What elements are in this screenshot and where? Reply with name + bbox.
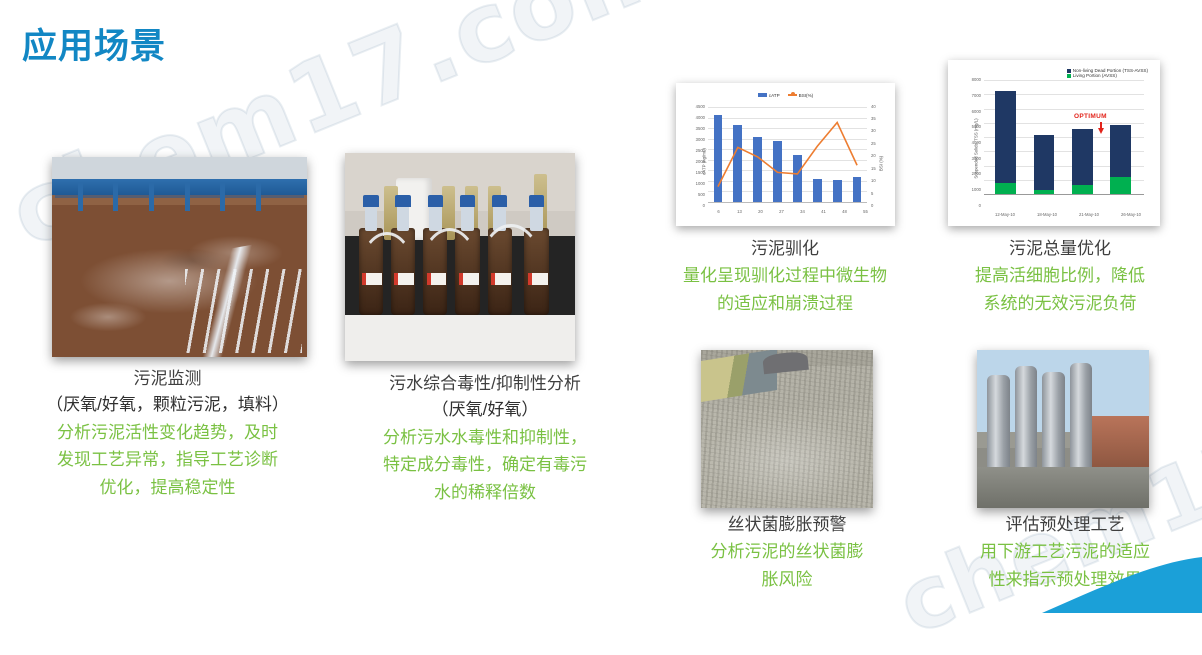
- card-description-line: 用下游工艺污泥的适应: [925, 538, 1202, 566]
- bar-living-portion: [1034, 190, 1055, 194]
- card-title: 污泥总量优化: [920, 236, 1200, 262]
- aeration-tank-photo-inner: [52, 157, 307, 357]
- gridline: [708, 202, 867, 203]
- digester-tower: [1070, 363, 1092, 467]
- suspended-solids-chart-legend: Non-living Dead Portion (TSS-AVSS) Livin…: [1067, 68, 1148, 78]
- bsi-polyline: [718, 122, 857, 186]
- filamentous-sludge-photo-inner: [701, 350, 873, 508]
- tank-post: [78, 183, 83, 211]
- caption-wastewater-toxicity: 污水综合毒性/抑制性分析 （厌氧/好氧） 分析污水水毒性和抑制性， 特定成分毒性…: [330, 371, 640, 506]
- tank-walkway: [52, 179, 307, 195]
- legend-label: BSI(%): [799, 93, 814, 98]
- legend-swatch-bar: [758, 93, 767, 97]
- caption-sludge-total-optimization: 污泥总量优化 提高活细胞比例，降低 系统的无效污泥负荷: [920, 236, 1200, 317]
- bar-living-portion: [995, 183, 1016, 194]
- xtick: 18-May-10: [1026, 212, 1068, 217]
- card-title: 丝状菌膨胀预警: [647, 512, 927, 538]
- ytick: 5000: [954, 124, 981, 129]
- legend-label: Living Portion (AVSS): [1073, 73, 1117, 78]
- caption-filamentous-bulking: 丝状菌膨胀预警 分析污泥的丝状菌膨 胀风险: [647, 512, 927, 593]
- lab-bottles-photo: [345, 153, 575, 361]
- ytick: 500: [682, 192, 705, 197]
- card-description-line: 特定成分毒性，确定有毒污: [330, 451, 640, 479]
- legend-item-bsi: BSI(%): [788, 93, 814, 98]
- bar-dead-portion: [1072, 129, 1093, 185]
- catp-chart-plot-area: [708, 107, 867, 202]
- digester-tower: [1015, 366, 1037, 467]
- xtick: 20: [750, 209, 771, 214]
- filamentous-sludge-photo: [701, 350, 873, 508]
- catp-bs-chart-legend: cATP BSI(%): [682, 89, 889, 101]
- suspended-solids-chart-inner: Non-living Dead Portion (TSS-AVSS) Livin…: [954, 66, 1154, 220]
- ytick: 3500: [682, 126, 705, 131]
- y2tick: 35: [871, 116, 889, 121]
- ytick: 3000: [954, 156, 981, 161]
- legend-item-living-portion: Living Portion (AVSS): [1067, 73, 1148, 78]
- tank-post: [149, 183, 154, 211]
- ytick: 4000: [682, 115, 705, 120]
- ytick: 2500: [682, 148, 705, 153]
- xtick: 13: [729, 209, 750, 214]
- card-description-line: 分析污水水毒性和抑制性，: [330, 424, 640, 452]
- card-description-line: 系统的无效污泥负荷: [920, 290, 1200, 318]
- card-subtitle: （厌氧/好氧，颗粒污泥，填料）: [0, 392, 335, 418]
- ytick: 2000: [682, 159, 705, 164]
- optimum-annotation-label: OPTIMUM: [1074, 113, 1107, 120]
- bar-dead-portion: [995, 91, 1016, 183]
- gridline: [984, 194, 1144, 195]
- legend-swatch-living: [1067, 74, 1071, 78]
- tank-handrail-bars: [185, 269, 302, 353]
- caption-pretreatment-evaluation: 评估预处理工艺 用下游工艺污泥的适应 性来指示预处理效果: [925, 512, 1202, 593]
- caption-sludge-monitoring: 污泥监测 （厌氧/好氧，颗粒污泥，填料） 分析污泥活性变化趋势，及时 发现工艺异…: [0, 366, 335, 501]
- xtick: 21-May-10: [1068, 212, 1110, 217]
- card-description-line: 性来指示预处理效果: [925, 566, 1202, 594]
- xtick: 26-May-10: [1110, 212, 1152, 217]
- xtick: 55: [855, 209, 876, 214]
- y2tick: 0: [871, 203, 889, 208]
- xtick: 6: [708, 209, 729, 214]
- page-title: 应用场景: [22, 18, 166, 69]
- ytick: 3000: [682, 137, 705, 142]
- bsi-line-series: [708, 107, 867, 202]
- card-subtitle: （厌氧/好氧）: [330, 397, 640, 423]
- xtick: 48: [834, 209, 855, 214]
- ytick: 1000: [954, 187, 981, 192]
- card-description-line: 提高活细胞比例，降低: [920, 262, 1200, 290]
- tank-post: [113, 183, 118, 211]
- tank-post: [256, 183, 261, 211]
- y2tick: 20: [871, 153, 889, 158]
- ytick: 8000: [954, 77, 981, 82]
- ytick: 4000: [954, 140, 981, 145]
- card-description-line: 分析污泥的丝状菌膨: [647, 538, 927, 566]
- optimum-arrow-head: [1098, 128, 1104, 134]
- ytick: 1000: [682, 181, 705, 186]
- catp-bs-chart-inner: cATP BSI(%) cATP (ng/mL) BSI (%): [682, 89, 889, 220]
- bar-dead-portion: [1110, 125, 1131, 177]
- y2tick: 40: [871, 104, 889, 109]
- ytick: 6000: [954, 109, 981, 114]
- xtick: 41: [813, 209, 834, 214]
- card-title: 污泥监测: [0, 366, 335, 392]
- bar-living-portion: [1110, 177, 1131, 194]
- ytick: 0: [954, 203, 981, 208]
- digester-tower: [987, 375, 1009, 467]
- card-description-line: 优化，提高稳定性: [0, 474, 335, 502]
- tss-chart-plot-area: [984, 80, 1144, 194]
- card-description-line: 的适应和崩溃过程: [645, 290, 925, 318]
- bar-dead-portion: [1034, 135, 1055, 190]
- card-description-line: 发现工艺异常，指导工艺诊断: [0, 446, 335, 474]
- tank-post: [220, 183, 225, 211]
- ytick: 1500: [682, 170, 705, 175]
- aeration-tank-photo: [52, 157, 307, 357]
- legend-label: cATP: [769, 93, 780, 98]
- tank-post: [185, 183, 190, 211]
- card-description-line: 量化呈现驯化过程中微生物: [645, 262, 925, 290]
- y2tick: 10: [871, 178, 889, 183]
- card-title: 污水综合毒性/抑制性分析: [330, 371, 640, 397]
- digester-tower: [1042, 372, 1064, 467]
- plant-building: [1091, 416, 1149, 470]
- card-description-line: 分析污泥活性变化趋势，及时: [0, 419, 335, 447]
- y2tick: 25: [871, 141, 889, 146]
- ytick: 7000: [954, 93, 981, 98]
- card-title: 评估预处理工艺: [925, 512, 1202, 538]
- digester-plant-photo: [977, 350, 1149, 508]
- suspended-solids-chart: Non-living Dead Portion (TSS-AVSS) Livin…: [948, 60, 1160, 226]
- legend-swatch-line: [788, 94, 797, 96]
- y2tick: 5: [871, 191, 889, 196]
- card-description-line: 水的稀释倍数: [330, 479, 640, 507]
- ytick: 2000: [954, 171, 981, 176]
- bar-living-portion: [1072, 185, 1093, 194]
- xtick: 12-May-10: [984, 212, 1026, 217]
- ytick: 4500: [682, 104, 705, 109]
- xtick: 34: [792, 209, 813, 214]
- y2tick: 15: [871, 166, 889, 171]
- gridline: [984, 80, 1144, 81]
- xtick: 27: [771, 209, 792, 214]
- lab-bottles-photo-inner: [345, 153, 575, 361]
- y2tick: 30: [871, 128, 889, 133]
- card-title: 污泥驯化: [645, 236, 925, 262]
- card-description-line: 胀风险: [647, 566, 927, 594]
- caption-sludge-acclimation: 污泥驯化 量化呈现驯化过程中微生物 的适应和崩溃过程: [645, 236, 925, 317]
- legend-swatch-dead: [1067, 69, 1071, 73]
- digester-plant-photo-inner: [977, 350, 1149, 508]
- catp-bs-chart: cATP BSI(%) cATP (ng/mL) BSI (%): [676, 83, 895, 226]
- ytick: 0: [682, 203, 705, 208]
- plant-ground: [977, 467, 1149, 508]
- legend-item-catp: cATP: [758, 93, 780, 98]
